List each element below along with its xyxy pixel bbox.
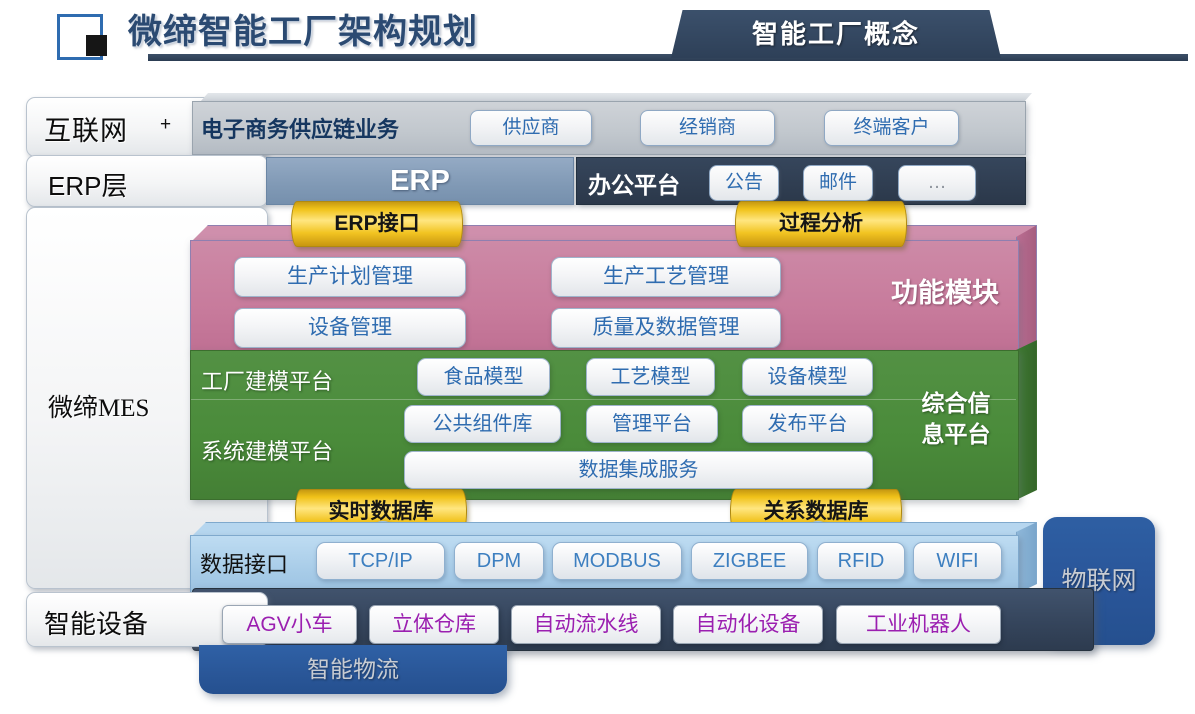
protocol-wifi[interactable]: WIFI (913, 542, 1002, 580)
protocol-zigbee[interactable]: ZIGBEE (691, 542, 808, 580)
fn-item-equipment-mgmt[interactable]: 设备管理 (234, 308, 466, 348)
cylinder-process-analysis[interactable]: 过程分析 (735, 201, 907, 247)
device-industrial-robot[interactable]: 工业机器人 (836, 605, 1001, 644)
fn-item-quality-data-mgmt[interactable]: 质量及数据管理 (551, 308, 781, 348)
device-agv[interactable]: AGV小车 (222, 605, 357, 644)
layer-label-mes: 微缔MES (48, 388, 149, 424)
data-interface-label: 数据接口 (200, 547, 288, 579)
tab-smart-factory-concept[interactable]: 智能工厂概念 (671, 10, 1001, 58)
office-item-announcement[interactable]: 公告 (709, 165, 779, 201)
layer-label-devices: 智能设备 (44, 604, 148, 641)
protocol-modbus[interactable]: MODBUS (552, 542, 682, 580)
device-automatic-line[interactable]: 自动流水线 (511, 605, 661, 644)
integrated-platform-label-line1: 综合信 (896, 388, 1016, 419)
platform-item-common-component-lib[interactable]: 公共组件库 (404, 405, 561, 443)
platform-right-face (1016, 340, 1037, 500)
device-stereo-warehouse[interactable]: 立体仓库 (369, 605, 499, 644)
office-item-mail[interactable]: 邮件 (803, 165, 873, 201)
layer-label-internet: 互联网 (44, 109, 128, 148)
internet-plus-sign: + (160, 114, 171, 136)
platform-item-process-model[interactable]: 工艺模型 (586, 358, 715, 396)
internet-item-supplier[interactable]: 供应商 (470, 110, 592, 146)
architecture-diagram: 微缔智能工厂架构规划 智能工厂概念 互联网 + 电子商务供应链业务 供应商 经销… (0, 0, 1195, 714)
erp-block-label: ERP (267, 158, 573, 204)
tab-label: 智能工厂概念 (671, 10, 1001, 58)
fn-item-production-process[interactable]: 生产工艺管理 (551, 257, 781, 297)
erp-block[interactable]: ERP (266, 157, 574, 205)
platform-row-divider (191, 399, 1016, 400)
fn-item-production-plan[interactable]: 生产计划管理 (234, 257, 466, 297)
cylinder-process-analysis-label: 过程分析 (736, 202, 906, 246)
protocol-rfid[interactable]: RFID (817, 542, 905, 580)
integrated-platform-label-line2: 息平台 (896, 419, 1016, 450)
office-item-more[interactable]: … (898, 165, 976, 201)
internet-item-end-customer[interactable]: 终端客户 (824, 110, 959, 146)
protocol-tcpip[interactable]: TCP/IP (316, 542, 445, 580)
integrated-platform-label: 综合信 息平台 (896, 388, 1016, 450)
cylinder-erp-interface-label: ERP接口 (292, 202, 462, 246)
square-filled-logo-icon (86, 35, 107, 56)
platform-item-publish-platform[interactable]: 发布平台 (742, 405, 873, 443)
ecommerce-supply-chain-title: 电子商务供应链业务 (201, 112, 399, 144)
header-rule (148, 54, 1188, 61)
platform-row-label-system-modeling: 系统建模平台 (201, 434, 333, 466)
platform-item-management-platform[interactable]: 管理平台 (586, 405, 718, 443)
protocol-dpm[interactable]: DPM (454, 542, 544, 580)
internet-item-distributor[interactable]: 经销商 (640, 110, 775, 146)
tab-smart-logistics-label: 智能物流 (199, 645, 507, 694)
function-module-label: 功能模块 (874, 271, 1016, 310)
platform-item-equipment-model[interactable]: 设备模型 (742, 358, 873, 396)
page-title: 微缔智能工厂架构规划 (128, 8, 478, 56)
platform-item-food-model[interactable]: 食品模型 (417, 358, 550, 396)
platform-row-label-factory-modeling: 工厂建模平台 (201, 364, 333, 396)
cylinder-erp-interface[interactable]: ERP接口 (291, 201, 463, 247)
function-module-right-face (1016, 225, 1037, 352)
device-automation-equipment[interactable]: 自动化设备 (673, 605, 823, 644)
data-interface-right-face (1016, 522, 1037, 594)
office-platform-title: 办公平台 (588, 166, 680, 200)
platform-item-data-integration-service[interactable]: 数据集成服务 (404, 451, 873, 489)
tab-smart-logistics[interactable]: 智能物流 (199, 645, 507, 694)
layer-label-erp: ERP层 (48, 166, 127, 203)
